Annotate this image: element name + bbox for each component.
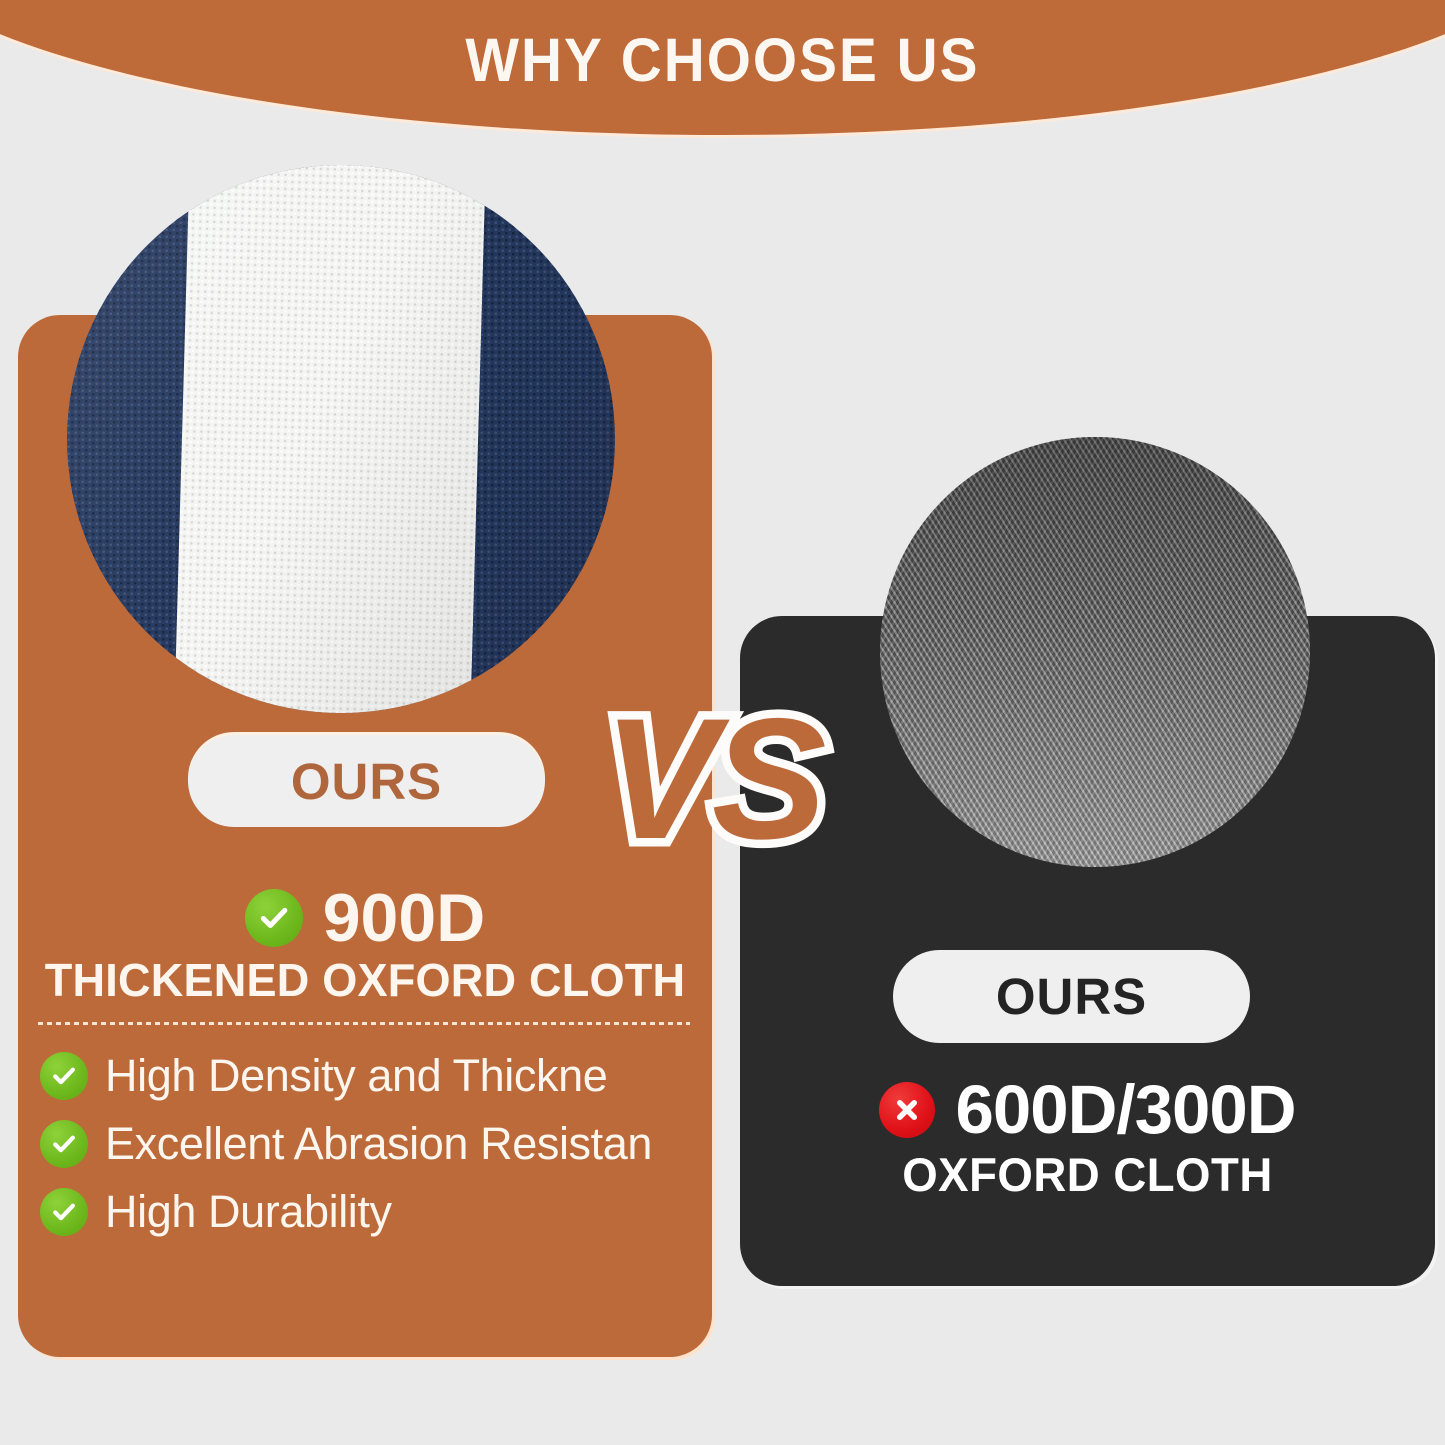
cross-circle-icon [879, 1082, 935, 1138]
ours-badge: OURS [188, 735, 545, 827]
theirs-badge-label: OURS [996, 967, 1147, 1026]
ours-feature-list: High Density and Thickne Excellent Abras… [40, 1050, 700, 1238]
list-item-label: Excellent Abrasion Resistan [105, 1118, 652, 1170]
list-item-label: High Durability [105, 1186, 392, 1238]
infographic-root: WHY CHOOSE US OURS VS 900D THICKENED OXF… [0, 0, 1445, 1445]
ours-badge-label: OURS [291, 752, 442, 811]
ours-divider [38, 1022, 690, 1025]
list-item-label: High Density and Thickne [105, 1050, 607, 1102]
ours-fabric-swatch-image [67, 165, 615, 713]
theirs-fabric-swatch-image [880, 437, 1310, 867]
ours-spec-row: 900D [18, 884, 712, 952]
check-circle-icon [245, 889, 303, 947]
list-item: Excellent Abrasion Resistan [40, 1118, 700, 1170]
list-item: High Density and Thickne [40, 1050, 700, 1102]
theirs-spec-subtitle: OXFORD CLOTH [750, 1147, 1424, 1202]
twill-shading-overlay [880, 437, 1310, 867]
ours-spec-number: 900D [323, 884, 486, 952]
theirs-spec-number: 600D/300D [955, 1075, 1295, 1144]
page-title: WHY CHOOSE US [51, 0, 1395, 95]
check-circle-icon [40, 1052, 88, 1100]
theirs-spec-row: 600D/300D [740, 1075, 1435, 1144]
theirs-badge: OURS [893, 950, 1250, 1043]
ours-spec-subtitle: THICKENED OXFORD CLOTH [25, 953, 705, 1007]
vs-badge: VS [603, 693, 820, 865]
check-circle-icon [40, 1120, 88, 1168]
list-item: High Durability [40, 1186, 700, 1238]
check-circle-icon [40, 1188, 88, 1236]
fabric-sheen-overlay [67, 165, 615, 713]
